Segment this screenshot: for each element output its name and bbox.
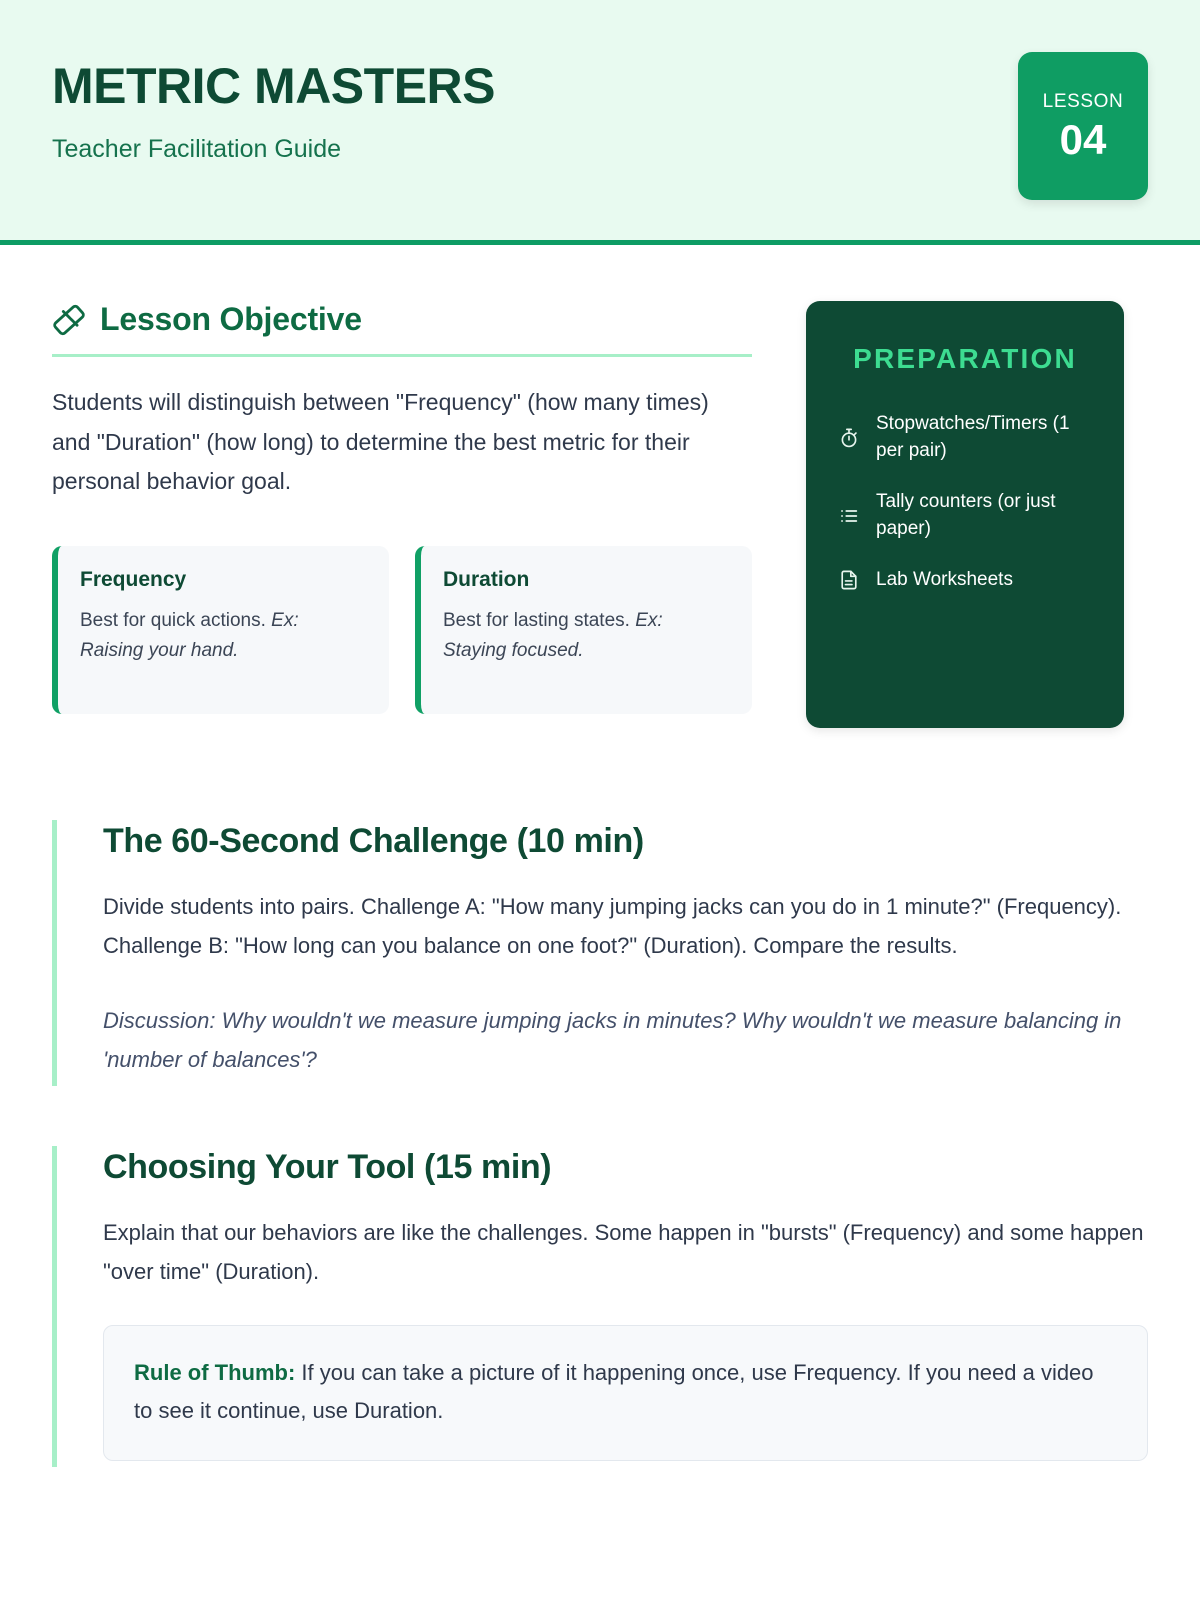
preparation-item-label: Lab Worksheets	[876, 567, 1013, 594]
metric-card-desc-plain: Best for quick actions.	[80, 610, 271, 631]
rule-of-thumb-callout: Rule of Thumb: If you can take a picture…	[103, 1325, 1148, 1461]
callout-label: Rule of Thumb:	[134, 1360, 295, 1385]
metric-card-description: Best for quick actions. Ex: Raising your…	[80, 606, 365, 668]
activity-title: Choosing Your Tool (15 min)	[103, 1148, 1148, 1187]
activity-title: The 60-Second Challenge (10 min)	[103, 822, 1148, 861]
metric-card-description: Best for lasting states. Ex: Staying foc…	[443, 606, 728, 668]
activity-body: Divide students into pairs. Challenge A:…	[103, 887, 1148, 965]
metric-card-desc-plain: Best for lasting states.	[443, 610, 635, 631]
list-icon	[838, 505, 860, 527]
preparation-item-lab-worksheets: Lab Worksheets	[832, 567, 1098, 594]
header-text-block: METRIC MASTERS Teacher Facilitation Guid…	[52, 52, 495, 164]
document-header: METRIC MASTERS Teacher Facilitation Guid…	[0, 0, 1200, 245]
objective-and-prep-row: Lesson Objective Students will distingui…	[52, 301, 1148, 728]
page-subtitle: Teacher Facilitation Guide	[52, 135, 495, 164]
lesson-badge-label: LESSON	[1043, 91, 1124, 113]
ruler-icon	[52, 303, 86, 337]
callout-text: Rule of Thumb: If you can take a picture…	[134, 1354, 1117, 1430]
activity-sections: The 60-Second Challenge (10 min) Divide …	[52, 820, 1148, 1467]
metric-card-title: Duration	[443, 568, 728, 592]
metric-card-frequency: Frequency Best for quick actions. Ex: Ra…	[52, 546, 389, 714]
objective-title: Lesson Objective	[100, 301, 362, 338]
preparation-item-tally-counters: Tally counters (or just paper)	[832, 489, 1098, 543]
main-content: Lesson Objective Students will distingui…	[0, 245, 1200, 1467]
objective-heading-row: Lesson Objective	[52, 301, 752, 338]
preparation-item-label: Tally counters (or just paper)	[876, 489, 1098, 543]
stopwatch-icon	[838, 427, 860, 449]
lesson-badge: LESSON 04	[1018, 52, 1148, 200]
objective-body-text: Students will distinguish between "Frequ…	[52, 383, 752, 502]
lesson-badge-number: 04	[1060, 119, 1107, 161]
metric-cards-row: Frequency Best for quick actions. Ex: Ra…	[52, 546, 752, 714]
preparation-item-stopwatches: Stopwatches/Timers (1 per pair)	[832, 411, 1098, 465]
activity-sixty-second-challenge: The 60-Second Challenge (10 min) Divide …	[52, 820, 1148, 1086]
objective-divider	[52, 354, 752, 357]
page-title: METRIC MASTERS	[52, 60, 495, 113]
preparation-title: PREPARATION	[832, 343, 1098, 375]
preparation-panel: PREPARATION Stopwatches/Timers (1 per pa…	[806, 301, 1124, 728]
preparation-item-label: Stopwatches/Timers (1 per pair)	[876, 411, 1098, 465]
metric-card-duration: Duration Best for lasting states. Ex: St…	[415, 546, 752, 714]
activity-body: Explain that our behaviors are like the …	[103, 1213, 1148, 1291]
activity-choosing-your-tool: Choosing Your Tool (15 min) Explain that…	[52, 1146, 1148, 1467]
lesson-objective-section: Lesson Objective Students will distingui…	[52, 301, 752, 714]
metric-card-title: Frequency	[80, 568, 365, 592]
activity-discussion-note: Discussion: Why wouldn't we measure jump…	[103, 1001, 1148, 1079]
document-icon	[838, 569, 860, 591]
